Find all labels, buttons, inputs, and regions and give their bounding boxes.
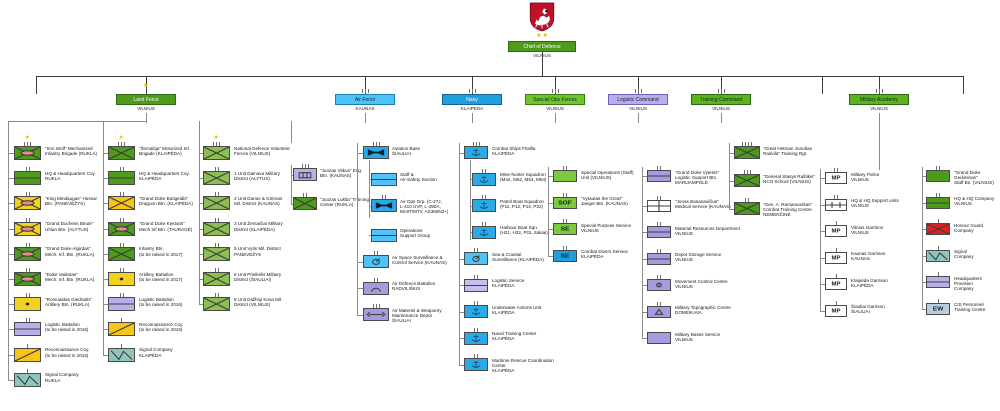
unit-symbol-glyph: SE <box>554 251 576 261</box>
connector-line <box>542 60 543 76</box>
echelon-marks <box>109 344 134 348</box>
land-brigade2-unit-4[interactable] <box>108 247 135 261</box>
echelon-tick <box>377 251 378 255</box>
unit-symbol-glyph <box>15 323 40 335</box>
branch-place-military-academy: VILNIUS <box>849 106 909 111</box>
connector-line <box>8 121 146 122</box>
echelon-tick <box>477 275 478 279</box>
echelon-marks <box>294 164 316 168</box>
unit-symbol-glyph: SE <box>554 224 576 234</box>
land-brigade2-unit-label-7: Reconnaissance Coy. (to be raised in 201… <box>139 322 201 333</box>
echelon-marks <box>735 170 759 174</box>
echelon-tick <box>477 354 478 358</box>
academy-unit-1[interactable] <box>926 197 950 209</box>
echelon-tick <box>29 218 30 222</box>
echelon-tick <box>373 142 374 146</box>
echelon-tick <box>121 344 122 348</box>
land-brigade2-unit-5[interactable] <box>108 272 135 286</box>
echelon-marks <box>826 195 846 199</box>
unit-symbol-glyph <box>15 273 40 285</box>
unit-symbol-glyph <box>364 309 388 320</box>
connector-line <box>365 113 366 123</box>
echelon-marks <box>15 344 40 348</box>
navy-unit-label-7: Naval Training Center KLAIPĖDA <box>492 331 567 342</box>
ndvf-unit-1[interactable] <box>203 171 230 185</box>
unit-symbol-glyph <box>473 200 495 211</box>
ndvf-unit-3[interactable] <box>203 222 230 236</box>
connector-line <box>642 338 647 339</box>
connector-line <box>357 143 358 315</box>
unit-symbol-glyph <box>204 273 229 285</box>
echelon-tick <box>555 89 556 93</box>
unit-symbol-glyph <box>927 224 949 234</box>
echelon-tick <box>123 243 124 247</box>
echelon-tick <box>563 166 564 170</box>
academy-unit-4[interactable] <box>926 276 950 288</box>
land-brigade1-unit-7[interactable] <box>14 322 41 336</box>
echelon-tick <box>566 193 567 197</box>
echelon-tick <box>837 195 838 199</box>
navy-unit-3[interactable] <box>472 226 496 239</box>
echelon-tick <box>26 167 27 171</box>
echelon-marks <box>648 166 670 170</box>
sof-unit-2[interactable]: SE <box>553 223 577 235</box>
land-brigade1-unit-1[interactable] <box>14 171 41 185</box>
unit-symbol-glyph <box>109 273 134 285</box>
echelon-marks <box>15 192 40 196</box>
academy-unit-3[interactable] <box>926 250 950 262</box>
land-brigade2-unit-6[interactable] <box>108 297 135 311</box>
echelon-marks <box>927 299 949 303</box>
airforce-unit-6[interactable] <box>363 308 389 321</box>
land-brigade1-unit-2[interactable] <box>14 196 41 210</box>
command-star: ★ <box>25 135 30 141</box>
echelon-tick <box>718 89 719 93</box>
unit-symbol-glyph: MP <box>826 306 846 316</box>
land-brigade2-unit-3[interactable] <box>108 222 135 236</box>
echelon-tick <box>303 193 304 197</box>
navy-unit-0[interactable] <box>464 146 488 159</box>
echelon-marks <box>109 142 134 146</box>
unit-symbol-glyph <box>15 298 40 310</box>
ndvf-unit-5[interactable] <box>203 272 230 286</box>
echelon-marks <box>15 167 40 171</box>
airforce-unit-label-0: Aviation Base ŠIAULIAI <box>392 146 464 157</box>
echelon-tick <box>744 170 745 174</box>
echelon-marks <box>465 354 487 358</box>
logistic-unit-5[interactable] <box>647 306 671 318</box>
echelon-tick <box>475 89 476 93</box>
svg-text:MP: MP <box>832 282 841 287</box>
echelon-marks <box>204 167 229 171</box>
unit-symbol-glyph <box>648 254 670 264</box>
connector-line <box>291 121 292 143</box>
mp-unit-5[interactable]: MP <box>825 305 847 317</box>
echelon-tick <box>379 142 380 146</box>
unit-symbol-glyph: MP <box>826 279 846 289</box>
airforce-unit-2[interactable] <box>371 199 397 212</box>
unit-symbol-glyph <box>648 280 670 290</box>
echelon-tick <box>474 301 475 305</box>
echelon-tick <box>123 268 124 272</box>
unit-symbol-glyph <box>15 172 40 184</box>
echelon-marks <box>15 268 40 272</box>
echelon-tick <box>382 195 383 199</box>
ndvf-unit-label-6: 8 Unit Didžioji Kova Mil. District (VILN… <box>234 297 300 308</box>
unit-symbol-glyph <box>648 171 670 181</box>
echelon-marks <box>927 219 949 223</box>
academy-unit-label-2: Honour Guard Company <box>954 223 1000 234</box>
land-brigade1-unit-4[interactable] <box>14 247 41 261</box>
echelon-marks <box>648 196 670 200</box>
echelon-marks <box>554 193 576 197</box>
sof-unit-label-3: Combat Divers Service KLAIPĖDA <box>581 249 649 260</box>
echelon-tick <box>657 275 658 279</box>
academy-unit-2[interactable] <box>926 223 950 235</box>
branch-place-special-ops-forces: VILNIUS <box>525 106 585 111</box>
airforce-unit-4[interactable] <box>363 255 389 268</box>
echelon-tick <box>477 248 478 252</box>
navy-unit-8[interactable] <box>464 358 488 371</box>
airforce-unit-1[interactable] <box>371 173 397 186</box>
echelon-tick <box>563 246 564 250</box>
unit-symbol-glyph <box>648 201 670 211</box>
unit-symbol-glyph: MP <box>826 173 846 183</box>
echelon-tick <box>26 243 27 247</box>
svg-text:MP: MP <box>832 309 841 314</box>
echelon-tick <box>742 142 743 146</box>
echelon-marks <box>465 142 487 146</box>
echelon-marks <box>648 275 670 279</box>
echelon-tick <box>635 89 636 93</box>
unit-symbol-glyph <box>109 323 134 335</box>
land-brigade2-unit-0[interactable] <box>108 146 135 160</box>
unit-symbol-glyph <box>465 306 487 317</box>
unit-symbol-glyph <box>826 200 846 210</box>
echelon-tick <box>120 268 121 272</box>
echelon-tick <box>123 167 124 171</box>
unit-symbol-glyph: EW <box>927 304 949 314</box>
unit-symbol-glyph <box>735 203 759 214</box>
mp-unit-1[interactable] <box>825 199 847 211</box>
echelon-tick <box>474 275 475 279</box>
connector-line <box>36 76 37 94</box>
airforce-unit-3[interactable] <box>371 229 397 242</box>
echelon-tick <box>308 164 309 168</box>
land-brigade2-unit-label-0: "Žemaitija" Motorized Inf. Brigade (KLAI… <box>139 146 201 157</box>
navy-unit-2[interactable] <box>472 199 496 212</box>
echelon-tick <box>306 193 307 197</box>
echelon-tick <box>118 142 119 146</box>
land-brigade1-unit-9[interactable] <box>14 373 41 387</box>
unit-symbol-glyph <box>15 197 40 209</box>
logistic-unit-6[interactable] <box>647 332 671 344</box>
echelon-tick <box>879 89 880 93</box>
echelon-tick <box>748 198 749 202</box>
land-support-unit-1[interactable] <box>293 197 317 210</box>
unit-symbol-glyph <box>109 172 134 184</box>
unit-symbol-glyph <box>294 198 316 209</box>
echelon-tick <box>305 164 306 168</box>
branch-box-special-ops-forces[interactable]: Special Ops Forces <box>525 94 585 105</box>
echelon-tick <box>219 142 220 146</box>
land-brigade2-unit-label-5: Artillery Battalion (to be raised in 201… <box>139 272 201 283</box>
connector-line <box>472 113 473 123</box>
navy-unit-4[interactable] <box>464 252 488 265</box>
echelon-tick <box>213 142 214 146</box>
echelon-tick <box>485 169 486 173</box>
echelon-tick <box>215 167 216 171</box>
unit-symbol-glyph <box>204 298 229 310</box>
echelon-marks <box>826 168 846 172</box>
unit-symbol-glyph <box>109 147 134 159</box>
airforce-unit-5[interactable] <box>363 282 389 295</box>
echelon-tick <box>660 196 661 200</box>
echelon-tick <box>660 275 661 279</box>
echelon-tick <box>482 195 483 199</box>
training-unit-1[interactable] <box>734 174 760 187</box>
airforce-unit-label-4: Air Space Surveillance & Control Service… <box>392 255 464 266</box>
logistic-unit-1[interactable] <box>647 200 671 212</box>
echelon-marks <box>473 169 495 173</box>
academy-unit-5[interactable]: EW <box>926 303 950 315</box>
echelon-tick <box>26 293 27 297</box>
echelon-tick <box>485 195 486 199</box>
connector-line <box>369 160 370 218</box>
navy-unit-6[interactable] <box>464 305 488 318</box>
sof-unit-0[interactable] <box>553 170 577 182</box>
echelon-tick <box>876 89 877 93</box>
land-brigade1-unit-0[interactable] <box>14 146 41 160</box>
echelon-tick <box>482 169 483 173</box>
echelon-tick <box>215 218 216 222</box>
unit-symbol-glyph: SOF <box>554 198 576 208</box>
unit-symbol-glyph <box>473 227 495 238</box>
navy-unit-label-8: Maritime Rescue Coordination Center KLAI… <box>492 358 567 374</box>
connector-line <box>470 160 471 240</box>
unit-symbol-glyph <box>372 230 396 241</box>
echelon-marks <box>473 195 495 199</box>
echelon-tick <box>563 219 564 223</box>
echelon-tick <box>834 195 835 199</box>
echelon-tick <box>120 243 121 247</box>
echelon-tick <box>563 193 564 197</box>
echelon-marks <box>15 318 40 322</box>
echelon-marks <box>294 193 316 197</box>
logistic-unit-0[interactable] <box>647 170 671 182</box>
unit-symbol-glyph <box>109 349 134 361</box>
echelon-tick <box>362 89 363 93</box>
connector-line <box>638 113 639 123</box>
echelon-marks <box>826 301 846 305</box>
land-support-unit-0[interactable] <box>293 168 317 181</box>
echelon-tick <box>218 192 219 196</box>
echelon-tick <box>836 274 837 278</box>
airforce-unit-label-5: Air Defence Battalion RADVILIŠKIS <box>392 281 464 292</box>
ndvf-unit-0[interactable] <box>203 146 230 160</box>
training-unit-0[interactable] <box>734 146 760 159</box>
connector-line <box>555 113 556 123</box>
mp-unit-label-1: HQ & HQ Support units VILNIUS <box>851 198 921 209</box>
mp-unit-0[interactable]: MP <box>825 172 847 184</box>
connector-line <box>822 76 823 94</box>
echelon-tick <box>218 243 219 247</box>
echelon-tick <box>124 142 125 146</box>
connector-line <box>542 52 543 60</box>
echelon-tick <box>385 195 386 199</box>
echelon-tick <box>938 272 939 276</box>
echelon-tick <box>374 278 375 282</box>
echelon-tick <box>215 268 216 272</box>
airforce-unit-label-3: Operations Support Group <box>400 228 472 239</box>
unit-symbol-glyph <box>465 280 487 291</box>
echelon-tick <box>474 354 475 358</box>
unit-symbol-glyph <box>364 147 388 158</box>
echelon-tick <box>473 142 474 146</box>
echelon-tick <box>24 142 25 146</box>
echelon-marks <box>442 89 502 93</box>
land-brigade2-unit-1[interactable] <box>108 171 135 185</box>
mp-unit-3[interactable]: MP <box>825 252 847 264</box>
logistic-unit-2[interactable] <box>647 226 671 238</box>
echelon-marks <box>15 293 40 297</box>
sof-unit-1[interactable]: SOF <box>553 197 577 209</box>
lithuanian-coat-of-arms <box>528 2 556 32</box>
echelon-tick <box>218 293 219 297</box>
land-brigade2-unit-7[interactable] <box>108 322 135 336</box>
echelon-tick <box>215 243 216 247</box>
unit-symbol-glyph <box>465 147 487 158</box>
land-brigade1-unit-label-3: "Grand Duchess Birutė" Uhlan Btn. (ALYTU… <box>45 221 110 232</box>
echelon-tick <box>218 268 219 272</box>
land-brigade1-unit-8[interactable] <box>14 348 41 362</box>
navy-unit-5[interactable] <box>464 279 488 292</box>
echelon-tick <box>745 142 746 146</box>
echelon-marks <box>15 142 40 146</box>
echelon-tick <box>27 344 28 348</box>
mp-unit-label-2: Vilnius Garrison VILNIUS <box>851 225 921 236</box>
unit-symbol-glyph <box>364 256 388 267</box>
echelon-tick <box>216 142 217 146</box>
ndvf-unit-2[interactable] <box>203 196 230 210</box>
unit-symbol-glyph <box>294 169 316 180</box>
branch-box-navy[interactable]: Navy <box>442 94 502 105</box>
logistic-unit-label-4: Movement Control Centre VILNIUS <box>675 279 747 290</box>
branch-box-military-academy[interactable]: Military Academy <box>849 94 909 105</box>
logistic-unit-label-3: Depot Storage Service VILNIUS <box>675 252 747 263</box>
echelon-marks <box>735 142 759 146</box>
echelon-tick <box>938 246 939 250</box>
echelon-marks <box>927 272 949 276</box>
svg-text:SOF: SOF <box>558 201 572 206</box>
land-brigade1-unit-3[interactable] <box>14 222 41 236</box>
branch-place-logistic-command: VILNIUS <box>608 106 668 111</box>
echelon-marks <box>465 301 487 305</box>
echelon-marks <box>204 192 229 196</box>
unit-symbol-glyph <box>15 147 40 159</box>
sof-unit-3[interactable]: SE <box>553 250 577 262</box>
command-star: ★ <box>214 135 219 141</box>
branch-box-land-force[interactable]: Land Force <box>116 94 176 105</box>
echelon-tick <box>485 222 486 226</box>
branch-box-air-force[interactable]: Air Force <box>335 94 395 105</box>
rank-stars: ★★ <box>528 33 556 39</box>
echelon-tick <box>376 142 377 146</box>
unit-symbol-glyph <box>109 197 134 209</box>
land-brigade1-unit-6[interactable] <box>14 297 41 311</box>
echelon-tick <box>302 164 303 168</box>
logistic-unit-label-6: Military Bases Service VILNIUS <box>675 332 747 343</box>
land-brigade2-unit-label-8: Signal Company KLAIPĖDA <box>139 347 201 358</box>
echelon-tick <box>29 293 30 297</box>
land-brigade1-unit-label-5: "Duke Vaidotas" Mech. Inf. Btn. (RUKLA) <box>45 272 110 283</box>
echelon-tick <box>837 168 838 172</box>
mp-unit-4[interactable]: MP <box>825 278 847 290</box>
echelon-tick <box>747 170 748 174</box>
echelon-marks <box>927 193 949 197</box>
training-unit-2[interactable] <box>734 202 760 215</box>
academy-unit-0[interactable] <box>926 170 950 182</box>
echelon-tick <box>377 278 378 282</box>
branch-box-training-command[interactable]: Training Command <box>691 94 751 105</box>
unit-symbol-glyph <box>15 248 40 260</box>
echelon-tick <box>748 142 749 146</box>
sof-unit-label-2: Special Purpose Service VILNIUS <box>581 223 649 234</box>
echelon-tick <box>474 328 475 332</box>
echelon-tick <box>26 192 27 196</box>
ndvf-unit-6[interactable] <box>203 297 230 311</box>
echelon-tick <box>373 304 374 308</box>
connector-line <box>820 311 825 312</box>
echelon-tick <box>218 167 219 171</box>
airforce-unit-0[interactable] <box>363 146 389 159</box>
echelon-tick <box>660 249 661 253</box>
echelon-tick <box>936 193 937 197</box>
org-chart-canvas: ★★Chief of DefenceVILNIUS★Land ForceVILN… <box>0 0 1000 411</box>
echelon-tick <box>641 89 642 93</box>
land-brigade2-unit-8[interactable] <box>108 348 135 362</box>
echelon-tick <box>376 304 377 308</box>
logistic-unit-3[interactable] <box>647 253 671 265</box>
echelon-marks <box>335 89 395 93</box>
ndvf-unit-4[interactable] <box>203 247 230 261</box>
connector-line <box>36 76 964 77</box>
ndvf-unit-label-0: National Defence Volunteer Forces (VILNI… <box>234 146 300 157</box>
land-brigade2-unit-label-2: "Grand Duke Butigeidis" Dragoon Btn. (KL… <box>139 196 201 207</box>
connector-line <box>642 167 643 338</box>
navy-unit-7[interactable] <box>464 332 488 345</box>
connector-line <box>879 113 880 170</box>
chief-of-defence-box[interactable]: Chief of Defence <box>508 41 576 52</box>
connector-line <box>8 380 14 381</box>
land-brigade1-unit-5[interactable] <box>14 272 41 286</box>
connector-line <box>729 209 734 210</box>
navy-unit-1[interactable] <box>472 173 496 186</box>
connector-line <box>199 121 200 143</box>
echelon-marks <box>648 302 670 306</box>
connector-line <box>820 169 821 311</box>
connector-line <box>721 113 722 123</box>
unit-symbol-glyph <box>204 248 229 260</box>
mp-unit-2[interactable]: MP <box>825 225 847 237</box>
logistic-unit-4[interactable] <box>647 279 671 291</box>
land-brigade2-unit-2[interactable] <box>108 196 135 210</box>
echelon-tick <box>123 218 124 222</box>
echelon-tick <box>120 293 121 297</box>
branch-box-logistic-command[interactable]: Logistic Command <box>608 94 668 105</box>
mp-unit-label-3: Kaunas Garrison KAUNAS <box>851 251 921 262</box>
echelon-tick <box>482 222 483 226</box>
